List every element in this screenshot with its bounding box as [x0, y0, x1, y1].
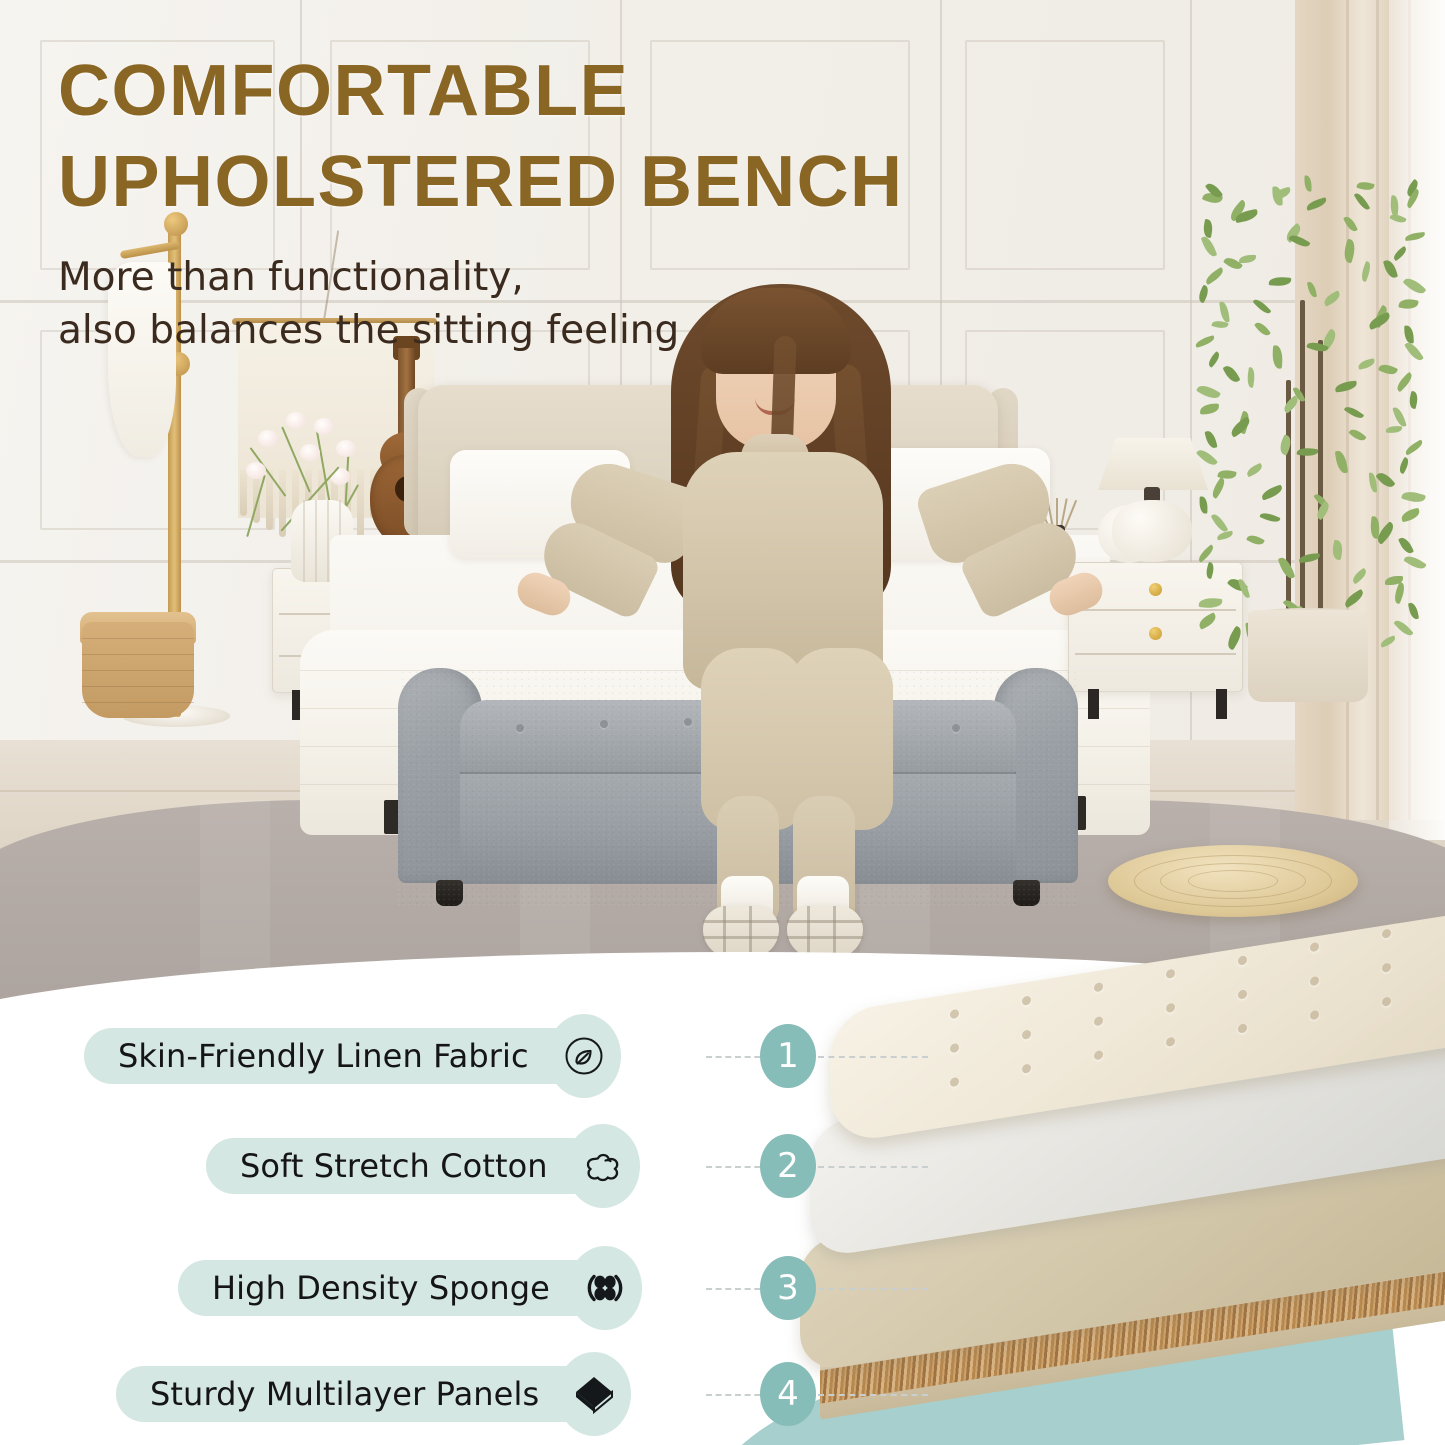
feature-row-1[interactable]: Skin-Friendly Linen Fabric 1 — [0, 1010, 900, 1102]
feature-pill-3[interactable]: High Density Sponge — [178, 1260, 628, 1316]
feature-label-1: Skin-Friendly Linen Fabric — [118, 1037, 529, 1075]
table-lamp-base — [1112, 500, 1192, 562]
plant-pot — [1248, 610, 1368, 702]
sponge-cells-icon — [568, 1246, 642, 1330]
cotton-boll-icon — [566, 1124, 640, 1208]
feature-list: Skin-Friendly Linen Fabric 1 — [0, 1000, 1445, 1445]
title-line-1: COMFORTABLE — [58, 52, 1108, 131]
feature-number-1: 1 — [760, 1024, 816, 1088]
bench-foot-left — [436, 880, 463, 906]
subtitle-line-1: More than functionality, — [58, 252, 1108, 305]
feature-number-4: 4 — [760, 1362, 816, 1426]
product-infographic: COMFORTABLE UPHOLSTERED BENCH More than … — [0, 0, 1445, 1445]
headline-block: COMFORTABLE UPHOLSTERED BENCH More than … — [58, 52, 1108, 357]
feature-row-2[interactable]: Soft Stretch Cotton 2 — [0, 1120, 900, 1212]
feature-number-2: 2 — [760, 1134, 816, 1198]
woven-basket — [82, 622, 194, 718]
feature-pill-4[interactable]: Sturdy Multilayer Panels — [116, 1366, 617, 1422]
subtitle-line-2: also balances the sitting feeling — [58, 305, 1108, 358]
feature-label-4: Sturdy Multilayer Panels — [150, 1375, 539, 1413]
woven-straw-pouf — [1108, 845, 1358, 917]
feature-number-3: 3 — [760, 1256, 816, 1320]
feature-pill-1[interactable]: Skin-Friendly Linen Fabric — [84, 1028, 607, 1084]
title-line-2: UPHOLSTERED BENCH — [58, 141, 1108, 224]
feature-label-2: Soft Stretch Cotton — [240, 1147, 548, 1185]
feature-pill-2[interactable]: Soft Stretch Cotton — [206, 1138, 626, 1194]
model-sitting-on-bench — [575, 276, 1045, 936]
feature-label-3: High Density Sponge — [212, 1269, 550, 1307]
feature-row-3[interactable]: High Density Sponge 3 — [0, 1242, 900, 1334]
slipper-left — [703, 906, 779, 958]
lamp-shade — [1098, 438, 1208, 490]
bedroom-scene-photo: COMFORTABLE UPHOLSTERED BENCH More than … — [0, 0, 1445, 1000]
feature-row-4[interactable]: Sturdy Multilayer Panels 4 — [0, 1348, 900, 1440]
leaf-icon — [547, 1014, 621, 1098]
slipper-right — [787, 906, 863, 958]
panel-board-icon — [557, 1352, 631, 1436]
